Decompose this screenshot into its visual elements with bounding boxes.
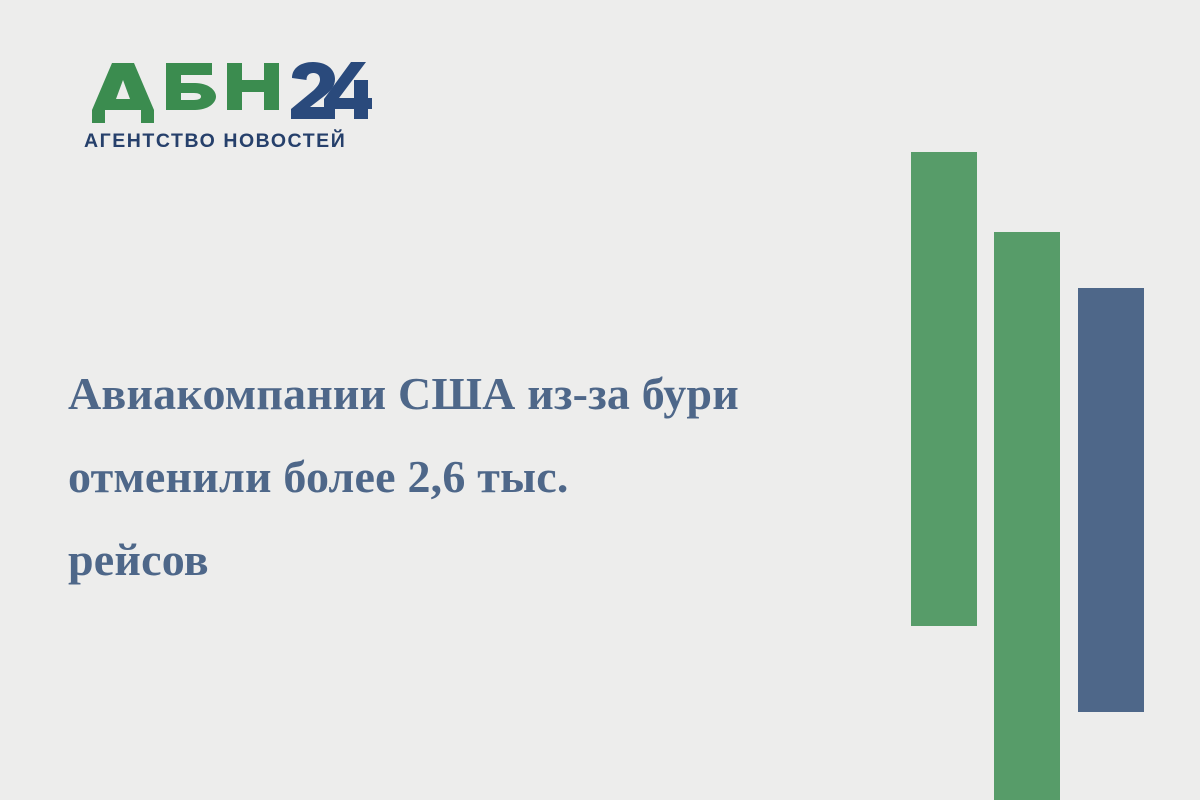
headline-line-2: отменили более 2,6 тыс. [68,435,868,518]
page-title: Авиакомпании США из-за бури отменили бол… [68,352,868,601]
headline-line-1: Авиакомпании США из-за бури [68,352,868,435]
decorative-bar-right [1078,288,1144,712]
news-card: АГЕНТСТВО НОВОСТЕЙ Авиакомпании США из-з… [0,0,1200,800]
logo-wordmark-icon [82,58,372,124]
logo[interactable]: АГЕНТСТВО НОВОСТЕЙ [82,58,372,163]
logo-tagline: АГЕНТСТВО НОВОСТЕЙ [84,130,346,153]
headline-line-3: рейсов [68,518,868,601]
decorative-bar-middle [994,232,1060,800]
decorative-bar-left [911,152,977,626]
